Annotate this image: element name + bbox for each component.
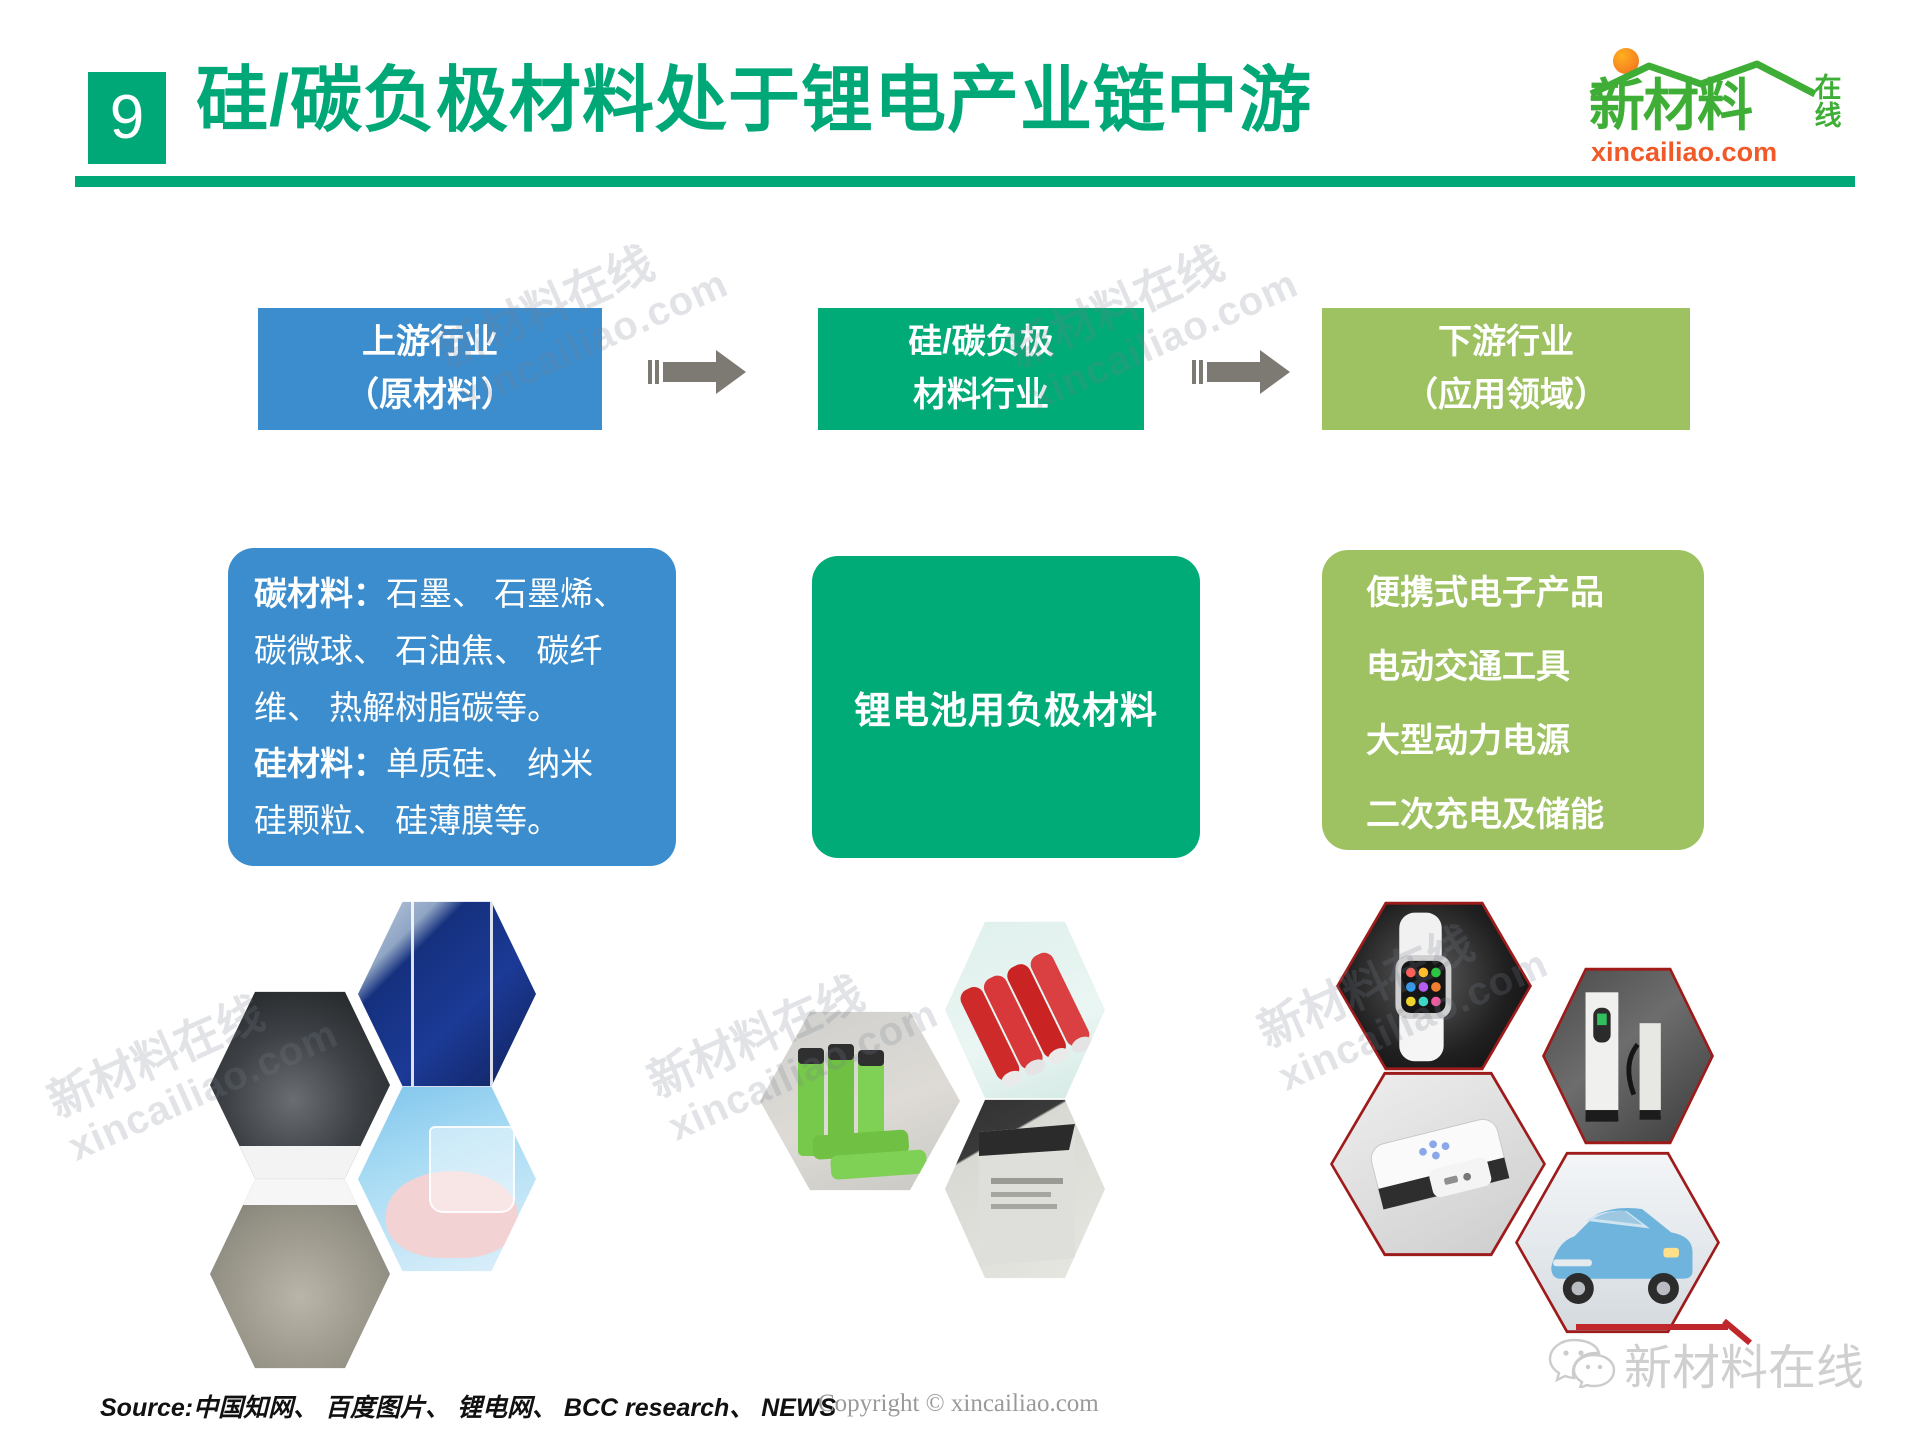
midstream-label: 锂电池用负极材料 bbox=[854, 680, 1158, 734]
flow-box-downstream: 下游行业 （应用领域） bbox=[1322, 308, 1690, 430]
copyright-note: Copyright © xincailiao.com bbox=[818, 1390, 1099, 1418]
upstream-line-rest: 单质硅、 纳米 bbox=[386, 745, 593, 782]
slide-number-badge: 9 bbox=[88, 72, 166, 164]
collage-midstream-photos bbox=[740, 920, 1170, 1260]
wechat-icon bbox=[1548, 1334, 1616, 1388]
slide-header: 9 硅/碳负极材料处于锂电产业链中游 新材料 在线 xincailiao.com bbox=[0, 0, 1920, 200]
flow-box-downstream-line2: （应用领域） bbox=[1404, 369, 1608, 422]
electric-car-photo bbox=[1515, 1150, 1720, 1335]
page-title: 硅/碳负极材料处于锂电产业链中游 bbox=[196, 62, 1312, 141]
flow-box-upstream: 上游行业 （原材料） bbox=[258, 308, 602, 430]
flow-box-midstream: 硅/碳负极 材料行业 bbox=[818, 308, 1144, 430]
upstream-line-rest: 维、 热解树脂碳等。 bbox=[254, 689, 560, 726]
upstream-line: 碳微球、 石油焦、 碳纤 bbox=[254, 623, 652, 680]
wechat-label: 新材料在线 bbox=[1624, 1328, 1864, 1398]
source-note: Source:中国知网、 百度图片、 锂电网、 BCC research、 NE… bbox=[100, 1388, 836, 1424]
application-item: 大型动力电源 bbox=[1366, 724, 1704, 758]
lead-acid-battery-photo bbox=[945, 1098, 1105, 1280]
upstream-line: 硅颗粒、 硅薄膜等。 bbox=[254, 793, 652, 850]
brand-logo: 新材料 在线 xincailiao.com bbox=[1585, 40, 1885, 172]
application-item: 便携式电子产品 bbox=[1366, 576, 1704, 610]
flow-box-midstream-line1: 硅/碳负极 bbox=[908, 316, 1053, 369]
silicon-powder-photo bbox=[210, 1178, 390, 1370]
upstream-line: 维、 热解树脂碳等。 bbox=[254, 680, 652, 737]
gloved-hand-beaker-photo bbox=[358, 1085, 536, 1273]
ev-charging-station-photo bbox=[1542, 966, 1714, 1146]
green-18650-cells-photo bbox=[760, 1010, 960, 1192]
right-arrow-icon bbox=[648, 348, 748, 396]
card-upstream-materials: 碳材料：石墨、 石墨烯、 碳微球、 石油焦、 碳纤 维、 热解树脂碳等。 硅材料… bbox=[228, 548, 676, 866]
flow-box-upstream-line2: （原材料） bbox=[345, 369, 515, 422]
brand-logo-name: 新材料 bbox=[1589, 78, 1751, 134]
card-midstream-material: 锂电池用负极材料 bbox=[812, 556, 1200, 858]
application-item: 电动交通工具 bbox=[1366, 650, 1704, 684]
card-downstream-applications: 便携式电子产品 电动交通工具 大型动力电源 二次充电及储能 bbox=[1322, 550, 1704, 850]
graphite-powder-photo bbox=[210, 990, 390, 1180]
collage-downstream-photos bbox=[1330, 900, 1780, 1340]
header-divider-rule bbox=[75, 176, 1855, 187]
brand-logo-url: xincailiao.com bbox=[1591, 139, 1777, 166]
solar-cell-wafer-photo bbox=[358, 900, 536, 1088]
upstream-line-rest: 硅颗粒、 硅薄膜等。 bbox=[254, 802, 560, 839]
upstream-line-lead: 碳材料： bbox=[254, 575, 386, 612]
smartwatch-photo bbox=[1336, 900, 1532, 1072]
red-cylindrical-cells-photo bbox=[945, 920, 1105, 1100]
wechat-badge: 新材料在线 bbox=[1548, 1322, 1888, 1396]
flow-box-upstream-line1: 上游行业 bbox=[362, 316, 498, 369]
application-item: 二次充电及储能 bbox=[1366, 798, 1704, 832]
brand-logo-subname: 在线 bbox=[1803, 74, 1853, 131]
upstream-line-lead: 硅材料： bbox=[254, 745, 386, 782]
collage-upstream-photos bbox=[200, 900, 670, 1350]
power-bank-photo bbox=[1330, 1070, 1546, 1258]
upstream-line: 碳材料：石墨、 石墨烯、 bbox=[254, 566, 652, 623]
flow-box-downstream-line1: 下游行业 bbox=[1438, 316, 1574, 369]
upstream-line: 硅材料：单质硅、 纳米 bbox=[254, 736, 652, 793]
right-arrow-icon bbox=[1192, 348, 1292, 396]
flow-box-midstream-line2: 材料行业 bbox=[913, 369, 1049, 422]
upstream-line-rest: 碳微球、 石油焦、 碳纤 bbox=[254, 632, 602, 669]
upstream-line-rest: 石墨、 石墨烯、 bbox=[386, 575, 626, 612]
